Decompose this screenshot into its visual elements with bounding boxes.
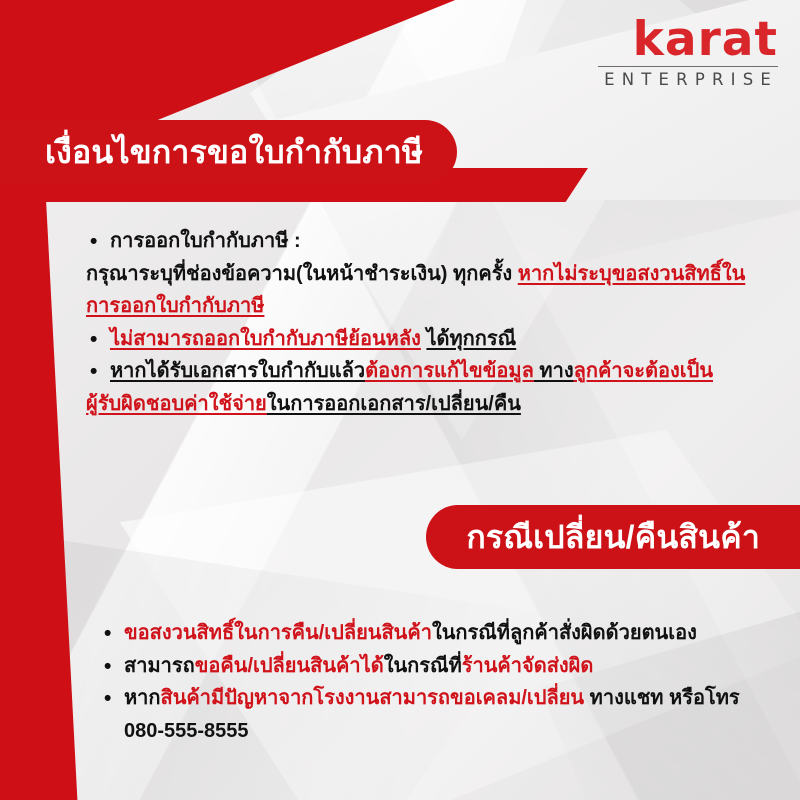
bullet-text: ในการออกเอกสาร/เปลี่ยน/คืน: [267, 393, 521, 415]
bullet-text-emphasis: สินค้ามีปัญหาจากโรงงานสามารถขอเคลม/เปลี่…: [161, 687, 585, 709]
bullet-text: หากได้รับเอกสารใบกำกับแล้ว: [110, 360, 365, 382]
list-item: สามารถขอคืน/เปลี่ยนสินค้าได้ในกรณีที่ร้า…: [100, 651, 790, 683]
bullet-text-emphasis: การออกใบกำกับภาษี: [86, 295, 264, 317]
contact-phone-line: 080-555-8555: [100, 716, 790, 748]
list-item-continuation: การออกใบกำกับภาษี: [86, 291, 786, 323]
bullet-text-emphasis: ขอสงวนสิทธิ์ในการคืน/เปลี่ยนสินค้า: [124, 622, 432, 644]
bullet-text-emphasis: ลูกค้าจะต้องเป็น: [574, 360, 713, 382]
bullet-text: การออกใบกำกับภาษี :: [110, 230, 301, 252]
bullet-text-emphasis: ผู้รับผิดชอบค่าใช้จ่าย: [86, 393, 267, 415]
list-item: หากได้รับเอกสารใบกำกับแล้วต้องการแก้ไขข้…: [86, 356, 786, 388]
list-item-continuation: ผู้รับผิดชอบค่าใช้จ่ายในการออกเอกสาร/เปล…: [86, 389, 786, 421]
bullet-text: ทางแชท หรือโทร: [584, 687, 740, 709]
bullet-text: ทาง: [534, 360, 574, 382]
bullet-text-emphasis: ร้านค้าจัดส่งผิด: [462, 655, 594, 677]
bullet-text: ในกรณีที่: [384, 655, 462, 677]
poster-canvas: karat ENTERPRISE เงื่อนไขการขอใบกำกับภาษ…: [0, 0, 800, 800]
bullet-text: ได้ทุกกรณี: [426, 328, 516, 350]
bullet-text: สามารถ: [124, 655, 195, 677]
bullet-text-emphasis: หากไม่ระบุขอสงวนสิทธิ์ใน: [518, 263, 746, 285]
tax-invoice-conditions-list: การออกใบกำกับภาษี : กรุณาระบุที่ช่องข้อค…: [86, 226, 786, 422]
bullet-text: ในกรณีที่ลูกค้าสั่งผิดด้วยตนเอง: [432, 622, 697, 644]
bullet-text-emphasis: ขอคืน/เปลี่ยนสินค้าได้: [195, 655, 384, 677]
section-heading-banner-tax-invoice: เงื่อนไขการขอใบกำกับภาษี: [0, 120, 457, 184]
bullet-text-emphasis: ต้องการแก้ไขข้อมูล: [365, 360, 534, 382]
bullet-text: หาก: [124, 687, 161, 709]
list-item-continuation: กรุณาระบุที่ช่องข้อความ(ในหน้าชำระเงิน) …: [86, 259, 786, 291]
brand-logo: karat ENTERPRISE: [598, 18, 778, 89]
bullet-text-emphasis: ไม่สามารถออกใบกำกับภาษีย้อนหลัง: [110, 328, 421, 350]
list-item: ไม่สามารถออกใบกำกับภาษีย้อนหลัง ได้ทุกกร…: [86, 324, 786, 356]
logo-wordmark: karat: [598, 18, 778, 63]
bullet-text: กรุณาระบุที่ช่องข้อความ(ในหน้าชำระเงิน) …: [86, 263, 518, 285]
banner-label: กรณีเปลี่ยน/คืนสินค้า: [466, 512, 760, 563]
list-item: การออกใบกำกับภาษี :: [86, 226, 786, 258]
return-exchange-conditions-list: ขอสงวนสิทธิ์ในการคืน/เปลี่ยนสินค้าในกรณี…: [100, 618, 790, 748]
phone-number[interactable]: 080-555-8555: [100, 716, 790, 748]
section-heading-banner-return-exchange: กรณีเปลี่ยน/คืนสินค้า: [426, 505, 800, 569]
list-item: หากสินค้ามีปัญหาจากโรงงานสามารถขอเคลม/เป…: [100, 683, 790, 715]
banner-label: เงื่อนไขการขอใบกำกับภาษี: [45, 127, 423, 178]
logo-tagline: ENTERPRISE: [598, 71, 778, 89]
list-item: ขอสงวนสิทธิ์ในการคืน/เปลี่ยนสินค้าในกรณี…: [100, 618, 790, 650]
